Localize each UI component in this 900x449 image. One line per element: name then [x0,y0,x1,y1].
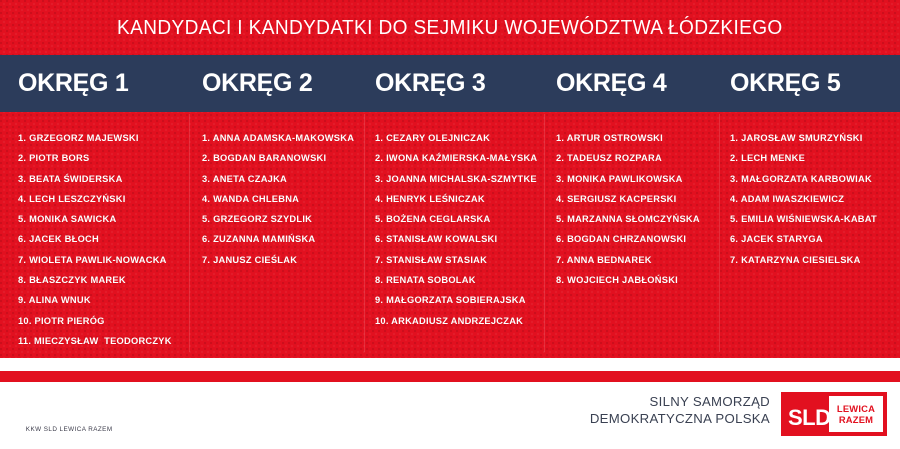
candidate-item: 1. ANNA ADAMSKA-MAKOWSKA [202,133,365,143]
lewica-razem-line-2: RAZEM [839,414,873,425]
candidate-item: 4. ADAM IWASZKIEWICZ [730,194,900,204]
candidate-item: 2. PIOTR BORS [18,153,190,163]
campaign-slogan: SILNY SAMORZĄD DEMOKRATYCZNA POLSKA [590,394,770,427]
candidate-item: 10. ARKADIUSZ ANDRZEJCZAK [375,316,545,326]
candidate-item: 10. PIOTR PIERÓG [18,316,190,326]
district-header-band: OKRĘG 1 OKRĘG 2 OKRĘG 3 OKRĘG 4 OKRĘG 5 [0,55,900,112]
candidate-column-1: 1. GRZEGORZ MAJEWSKI2. PIOTR BORS3. BEAT… [0,112,190,358]
candidate-item: 7. STANISŁAW STASIAK [375,255,545,265]
candidate-item: 3. BEATA ŚWIDERSKA [18,174,190,184]
candidate-column-4: 1. ARTUR OSTROWSKI2. TADEUSZ ROZPARA3. M… [545,112,720,358]
candidate-item: 1. ARTUR OSTROWSKI [556,133,720,143]
candidate-item: 9. MAŁGORZATA SOBIERAJSKA [375,295,545,305]
candidate-item: 2. BOGDAN BARANOWSKI [202,153,365,163]
candidate-item: 3. JOANNA MICHALSKA-SZMYTKE [375,174,545,184]
candidate-item: 6. STANISŁAW KOWALSKI [375,234,545,244]
district-header-3: OKRĘG 3 [365,55,545,112]
candidate-list-1: 1. GRZEGORZ MAJEWSKI2. PIOTR BORS3. BEAT… [18,133,190,346]
candidate-item: 6. ZUZANNA MAMIŃSKA [202,234,365,244]
candidate-item: 6. BOGDAN CHRZANOWSKI [556,234,720,244]
candidate-list-3: 1. CEZARY OLEJNICZAK2. IWONA KAŹMIERSKA-… [375,133,545,326]
candidate-item: 4. HENRYK LEŚNICZAK [375,194,545,204]
candidate-item: 5. GRZEGORZ SZYDLIK [202,214,365,224]
slogan-line-2: DEMOKRATYCZNA POLSKA [590,411,770,428]
page-title: KANDYDACI I KANDYDATKI DO SEJMIKU WOJEWÓ… [0,0,900,55]
candidate-item: 4. SERGIUSZ KACPERSKI [556,194,720,204]
district-header-2: OKRĘG 2 [190,55,365,112]
slogan-line-1: SILNY SAMORZĄD [590,394,770,411]
candidate-item: 6. JACEK BŁOCH [18,234,190,244]
red-accent-stripe [0,371,900,382]
candidate-item: 7. JANUSZ CIEŚLAK [202,255,365,265]
candidate-list-2: 1. ANNA ADAMSKA-MAKOWSKA2. BOGDAN BARANO… [202,133,365,265]
candidate-item: 5. MARZANNA SŁOMCZYŃSKA [556,214,720,224]
candidate-item: 2. TADEUSZ ROZPARA [556,153,720,163]
page-title-text: KANDYDACI I KANDYDATKI DO SEJMIKU WOJEWÓ… [117,16,783,40]
candidate-columns: 1. GRZEGORZ MAJEWSKI2. PIOTR BORS3. BEAT… [0,112,900,358]
committee-label: KKW SLD LEWICA RAZEM [26,426,113,433]
district-header-4: OKRĘG 4 [545,55,720,112]
footer: KKW SLD LEWICA RAZEM SILNY SAMORZĄD DEMO… [0,382,900,449]
candidate-item: 2. LECH MENKE [730,153,900,163]
candidate-item: 2. IWONA KAŹMIERSKA-MAŁYSKA [375,153,545,163]
district-header-1: OKRĘG 1 [0,55,190,112]
poster: KANDYDACI I KANDYDATKI DO SEJMIKU WOJEWÓ… [0,0,900,449]
candidate-item: 7. WIOLETA PAWLIK-NOWACKA [18,255,190,265]
candidate-item: 1. JAROSŁAW SMURZYŃSKI [730,133,900,143]
candidate-item: 8. BŁASZCZYK MAREK [18,275,190,285]
district-header-5: OKRĘG 5 [720,55,900,112]
candidate-item: 1. GRZEGORZ MAJEWSKI [18,133,190,143]
candidate-item: 3. MONIKA PAWLIKOWSKA [556,174,720,184]
candidate-item: 3. MAŁGORZATA KARBOWIAK [730,174,900,184]
candidate-item: 4. LECH LESZCZYŃSKI [18,194,190,204]
candidate-item: 4. WANDA CHLEBNA [202,194,365,204]
candidate-item: 5. BOŻENA CEGLARSKA [375,214,545,224]
candidate-item: 3. ANETA CZAJKA [202,174,365,184]
white-gap [0,358,900,371]
candidate-item: 6. JACEK STARYGA [730,234,900,244]
candidate-column-3: 1. CEZARY OLEJNICZAK2. IWONA KAŹMIERSKA-… [365,112,545,358]
candidate-item: 11. MIECZYSŁAW TEODORCZYK [18,336,190,346]
sld-logo: SLD LEWICA RAZEM [781,392,887,436]
candidate-item: 8. RENATA SOBOLAK [375,275,545,285]
candidate-column-5: 1. JAROSŁAW SMURZYŃSKI2. LECH MENKE3. MA… [720,112,900,358]
candidate-item: 8. WOJCIECH JABŁOŃSKI [556,275,720,285]
candidate-item: 9. ALINA WNUK [18,295,190,305]
candidate-item: 5. EMILIA WIŚNIEWSKA-KABAT [730,214,900,224]
lewica-razem-badge: LEWICA RAZEM [829,396,883,432]
candidate-item: 1. CEZARY OLEJNICZAK [375,133,545,143]
candidate-item: 5. MONIKA SAWICKA [18,214,190,224]
candidate-column-2: 1. ANNA ADAMSKA-MAKOWSKA2. BOGDAN BARANO… [190,112,365,358]
lewica-razem-line-1: LEWICA [837,403,875,414]
candidate-item: 7. KATARZYNA CIESIELSKA [730,255,900,265]
sld-logo-text: SLD [781,399,831,429]
candidate-list-5: 1. JAROSŁAW SMURZYŃSKI2. LECH MENKE3. MA… [730,133,900,265]
candidate-item: 7. ANNA BEDNAREK [556,255,720,265]
candidate-list-4: 1. ARTUR OSTROWSKI2. TADEUSZ ROZPARA3. M… [556,133,720,285]
